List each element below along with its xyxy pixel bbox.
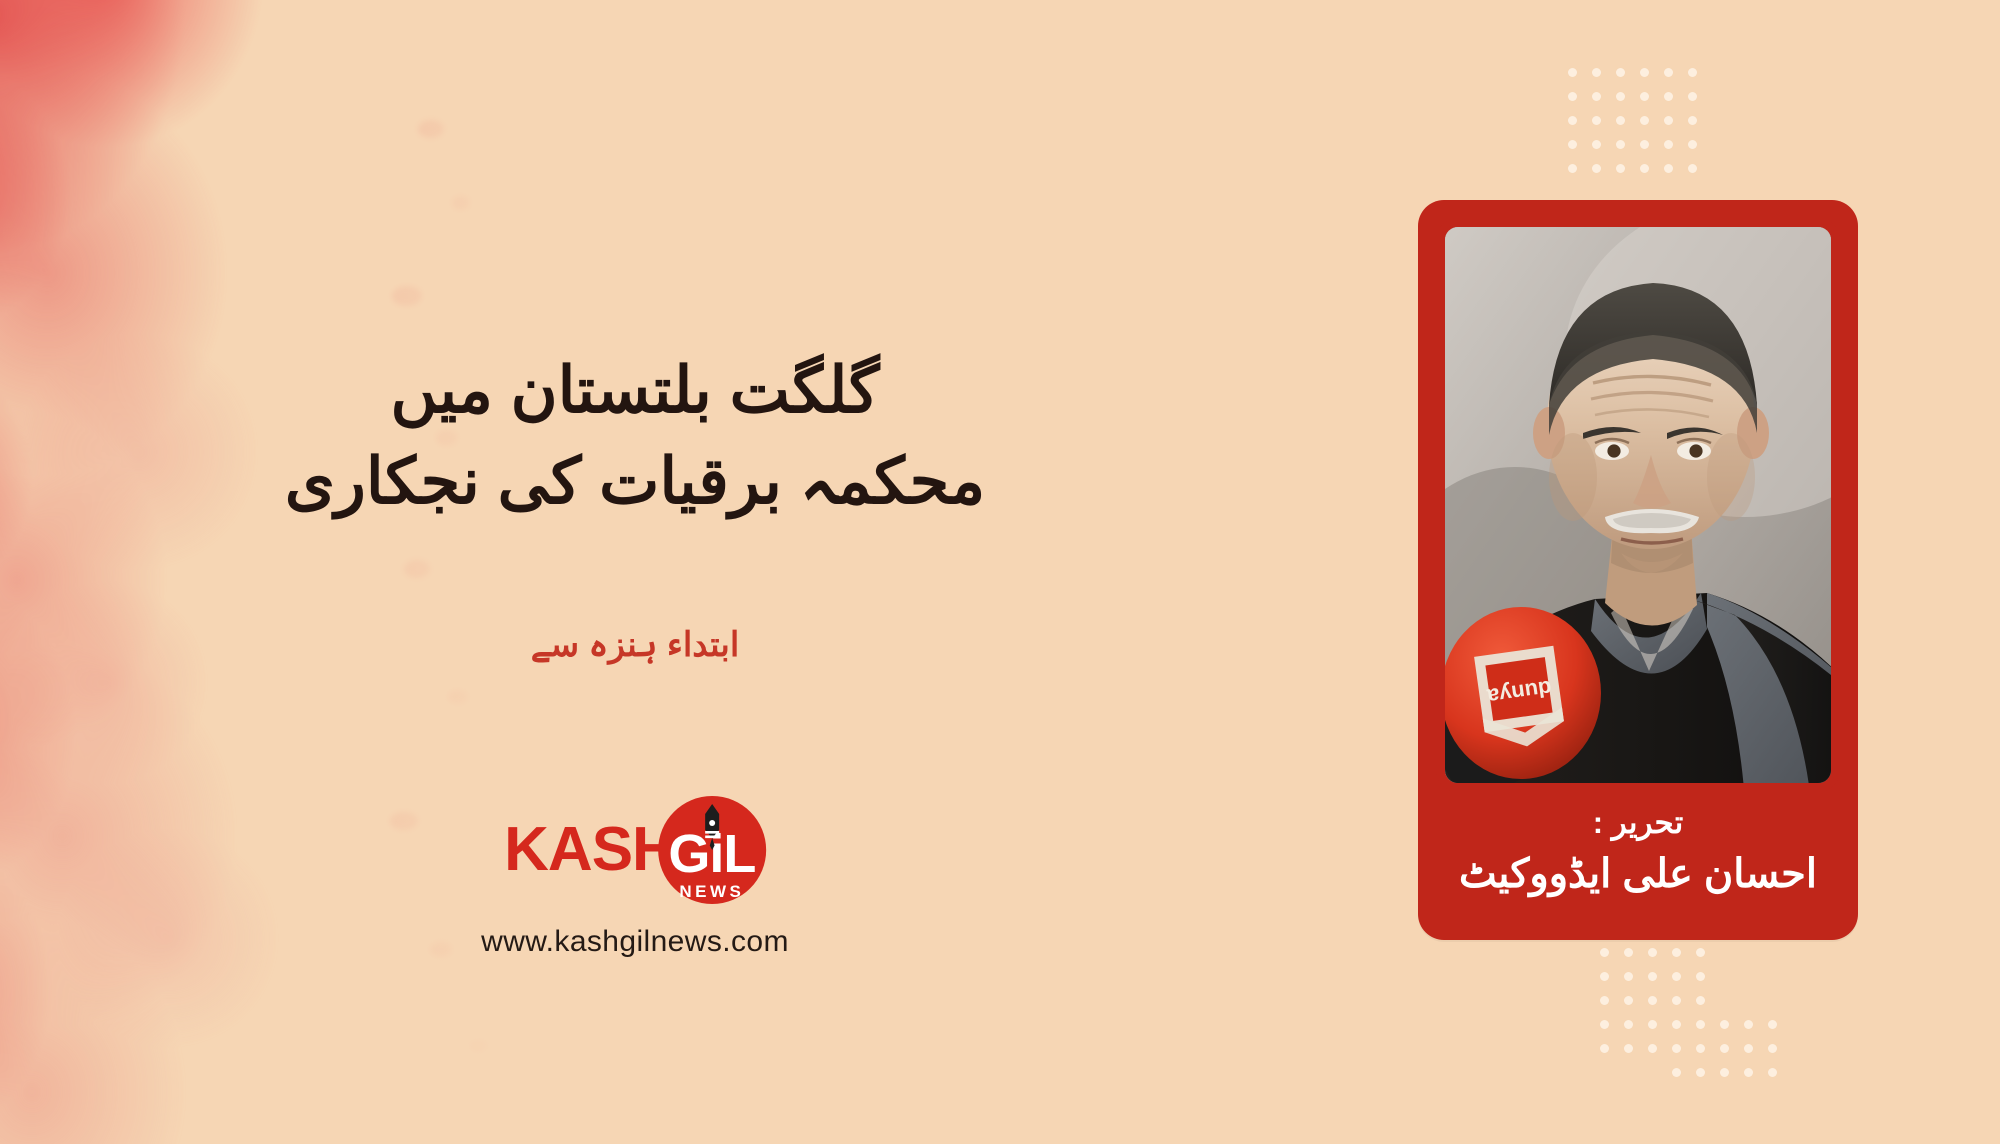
logo-wordmark-kash: KASH (504, 819, 676, 881)
byline: تحریر : احسان علی ایڈووکیٹ (1418, 804, 1858, 901)
byline-label: تحریر : (1418, 804, 1858, 843)
author-name: احسان علی ایڈووکیٹ (1418, 847, 1858, 901)
author-photo-frame: dunya (1436, 218, 1840, 792)
website-url[interactable]: www.kashgilnews.com (120, 925, 1150, 959)
headline-block: گلگت بلتستان میں محکمہ برقیات کی نجکاری … (120, 0, 1150, 1144)
author-card: dunya تحریر : احسان علی ایڈووکیٹ (1418, 200, 1858, 940)
logo-badge-circle: GiL NEWS (658, 796, 766, 904)
kashgil-news-logo[interactable]: KASH GiL NEWS (504, 796, 766, 904)
headline-line-2: محکمہ برقیات کی نجکاری (120, 436, 1150, 527)
author-photo: dunya (1445, 227, 1831, 783)
headline-line-1: گلگت بلتستان میں (120, 345, 1150, 436)
news-poster: گلگت بلتستان میں محکمہ برقیات کی نجکاری … (0, 0, 2000, 1144)
pen-nib-icon (699, 804, 725, 850)
subheadline: ابتداء ہنزہ سے (120, 624, 1150, 665)
logo-wordmark-news: NEWS (679, 882, 744, 902)
page-title: گلگت بلتستان میں محکمہ برقیات کی نجکاری (120, 345, 1150, 527)
